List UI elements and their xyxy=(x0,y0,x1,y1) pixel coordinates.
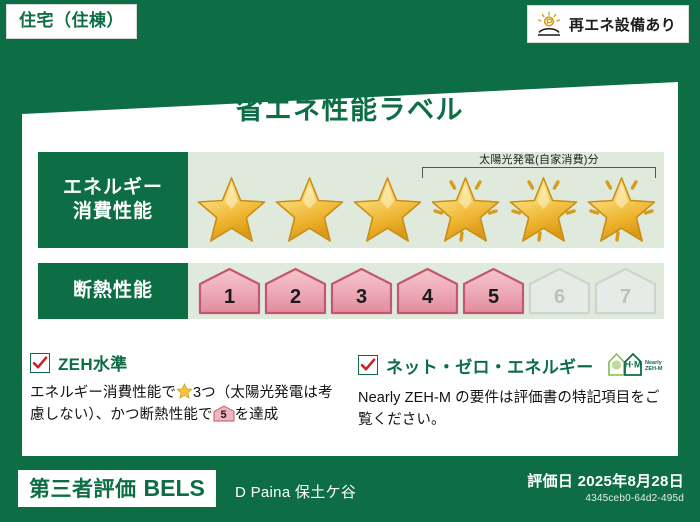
renewable-badge-label: 再エネ設備あり xyxy=(569,14,676,35)
insulation-level-6: 6 xyxy=(528,267,591,315)
solar-sun-icon xyxy=(536,11,562,37)
energy-performance-label: 住宅（住棟） 再エネ設備あり 建築物省エネ法に基づく 省エネ性能ラベル xyxy=(0,0,700,522)
insulation-level-5: 5 xyxy=(462,267,525,315)
energy-label-line2: 消費性能 xyxy=(73,200,153,224)
energy-performance-row: エネルギー 消費性能 太陽光発電(自家消費)分 xyxy=(38,152,664,248)
svg-text:ZEH-M: ZEH-M xyxy=(645,366,663,372)
bels-jp-label: 第三者評価 xyxy=(29,473,137,503)
note-zeh-text-1: エネルギー消費性能で xyxy=(30,385,176,401)
insulation-level-number: 6 xyxy=(554,286,565,315)
note-zeh-star-count: 3つ xyxy=(193,385,216,401)
evaluation-date: 評価日 2025年8月28日 xyxy=(527,470,684,491)
insulation-performance-row: 断熱性能 1 xyxy=(38,263,664,319)
evaluation-date-label: 評価日 xyxy=(527,473,573,490)
insulation-label: 断熱性能 xyxy=(73,279,153,303)
insulation-level-number: 5 xyxy=(488,286,499,315)
evaluation-date-value: 2025年8月28日 xyxy=(578,473,684,490)
insulation-performance-body: 1 2 xyxy=(188,263,664,319)
star-3 xyxy=(348,170,426,246)
notes-section: ZEH水準 エネルギー消費性能で 3つ（太陽光発電は考慮しない）、かつ断熱性能で… xyxy=(30,350,670,431)
star-1 xyxy=(192,170,270,246)
note-zeh-text-3: を達成 xyxy=(235,407,279,423)
note-nze-header: ネット・ゼロ・エネルギー H·M Nearly ZEH-M xyxy=(358,350,670,380)
star-2 xyxy=(270,170,348,246)
star-4 xyxy=(426,170,504,246)
evaluation-info: 評価日 2025年8月28日 4345ceb0-64d2-495d xyxy=(527,470,684,504)
category-tab: 住宅（住棟） xyxy=(6,4,137,39)
note-nze-title: ネット・ゼロ・エネルギー xyxy=(386,353,594,378)
insulation-level-4: 4 xyxy=(396,267,459,315)
insulation-level-2: 2 xyxy=(264,267,327,315)
svg-text:H·M: H·M xyxy=(624,360,641,370)
title-block: 建築物省エネ法に基づく 省エネ性能ラベル xyxy=(0,62,700,127)
star-6 xyxy=(582,170,660,246)
solar-annotation-label: 太陽光発電(自家消費)分 xyxy=(418,151,660,167)
note-nze-body: Nearly ZEH-M の要件は評価書の特記項目をご覧ください。 xyxy=(358,387,670,431)
insulation-level-scale: 1 2 xyxy=(198,267,657,315)
insulation-level-1: 1 xyxy=(198,267,261,315)
zeh-m-logo-icon: H·M Nearly ZEH-M xyxy=(606,350,668,380)
title-subtitle: 建築物省エネ法に基づく xyxy=(0,62,700,83)
note-zeh-standard: ZEH水準 エネルギー消費性能で 3つ（太陽光発電は考慮しない）、かつ断熱性能で… xyxy=(30,350,342,431)
checkbox-checked-icon xyxy=(358,355,378,375)
energy-performance-body: 太陽光発電(自家消費)分 xyxy=(188,152,664,248)
page-title: 省エネ性能ラベル xyxy=(0,88,700,127)
category-tab-label: 住宅（住棟） xyxy=(19,11,124,30)
checkbox-checked-icon xyxy=(30,353,50,373)
footer-bar: 第三者評価 BELS D Paina 保土ケ谷 評価日 2025年8月28日 4… xyxy=(0,460,700,522)
bels-en-label: BELS xyxy=(144,475,205,502)
note-zeh-header: ZEH水準 xyxy=(30,350,342,375)
star-5 xyxy=(504,170,582,246)
insulation-level-number: 1 xyxy=(224,286,235,315)
star-rating xyxy=(192,170,660,246)
evaluation-id: 4345ceb0-64d2-495d xyxy=(527,493,684,504)
insulation-level-7: 7 xyxy=(594,267,657,315)
insulation-performance-label-box: 断熱性能 xyxy=(38,263,188,319)
renewable-equipment-badge: 再エネ設備あり xyxy=(527,5,689,43)
inline-house-badge: 5 xyxy=(213,405,235,422)
insulation-level-number: 7 xyxy=(620,286,631,315)
energy-label-line1: エネルギー xyxy=(63,176,163,200)
note-zeh-body: エネルギー消費性能で 3つ（太陽光発電は考慮しない）、かつ断熱性能で 5 を達成 xyxy=(30,382,342,426)
note-zeh-title: ZEH水準 xyxy=(58,350,128,375)
insulation-level-3: 3 xyxy=(330,267,393,315)
inline-star-icon xyxy=(176,383,193,399)
note-net-zero-energy: ネット・ゼロ・エネルギー H·M Nearly ZEH-M Nearly ZEH… xyxy=(358,350,670,431)
insulation-level-number: 4 xyxy=(422,286,433,315)
building-name: D Paina 保土ケ谷 xyxy=(235,481,356,502)
insulation-level-number: 2 xyxy=(290,286,301,315)
bels-certification-plate: 第三者評価 BELS xyxy=(18,470,216,507)
energy-performance-label-box: エネルギー 消費性能 xyxy=(38,152,188,248)
insulation-level-number: 3 xyxy=(356,286,367,315)
inline-house-number: 5 xyxy=(213,407,235,424)
